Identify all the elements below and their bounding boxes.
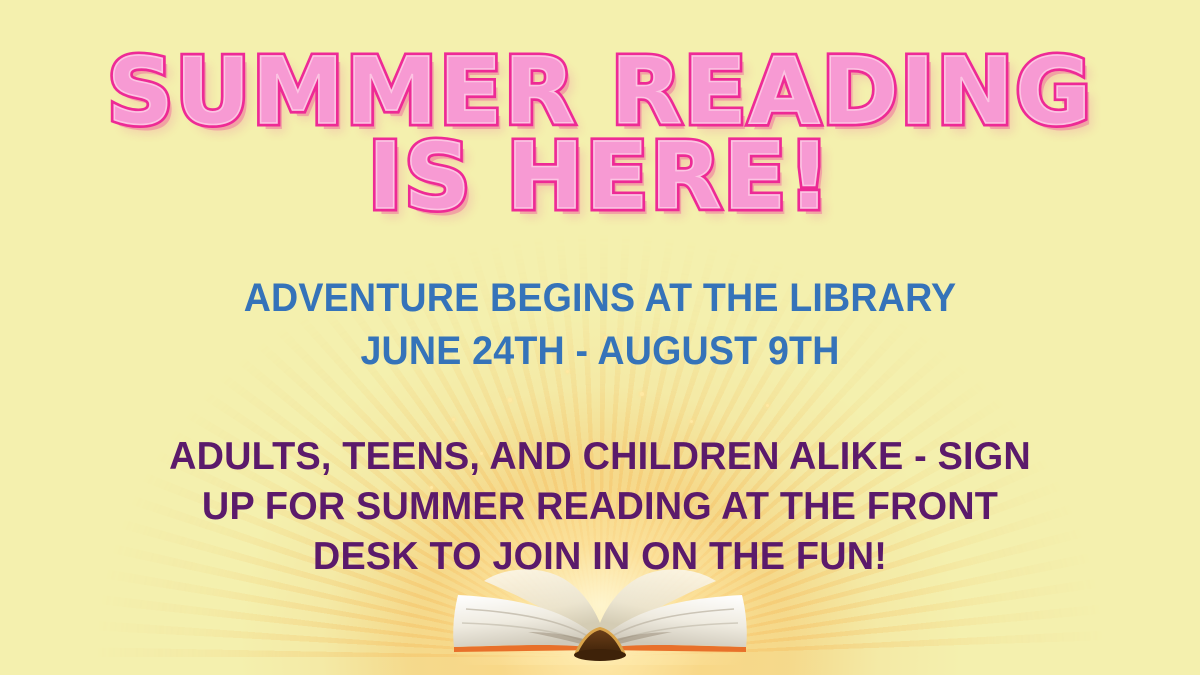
book-spine-base [574, 649, 626, 661]
body-copy-line-2: UP FOR SUMMER READING AT THE FRONT [18, 482, 1182, 532]
open-book-icon [440, 551, 760, 663]
subheadline-line-2: JUNE 24TH - AUGUST 9TH [36, 325, 1164, 378]
subheadline-line-1: ADVENTURE BEGINS AT THE LIBRARY [36, 272, 1164, 325]
subheadline: ADVENTURE BEGINS AT THE LIBRARY JUNE 24T… [36, 272, 1164, 378]
body-copy-line-1: ADULTS, TEENS, AND CHILDREN ALIKE - SIGN [18, 432, 1182, 482]
summer-reading-poster: SUMMER READING IS HERE! SUMMER READING I… [0, 0, 1200, 675]
headline: SUMMER READING IS HERE! [0, 52, 1200, 218]
headline-line-2: IS HERE! [0, 137, 1200, 218]
